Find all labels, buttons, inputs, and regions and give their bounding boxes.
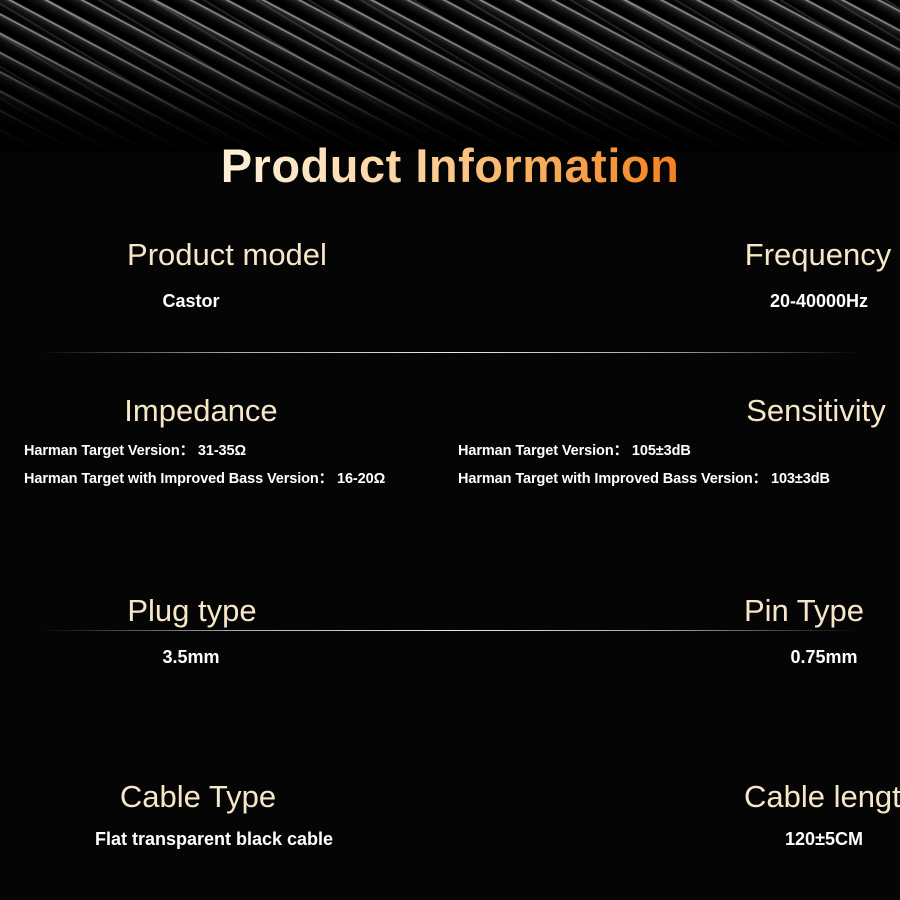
page-title: Product Information: [221, 138, 680, 193]
diagonal-ridge-texture-banner: [0, 0, 900, 152]
spec-value: 120±5CM: [599, 828, 900, 851]
spec-cell: Cable length 120±5CM: [450, 778, 900, 851]
page-title-container: Product Information: [0, 138, 900, 193]
spec-subline: Harman Target Version： 31-35Ω: [24, 444, 450, 459]
spec-subline: Harman Target with Improved Bass Version…: [458, 472, 900, 487]
spec-label: Pin Type: [579, 592, 900, 630]
spec-label: Cable Type: [0, 778, 423, 816]
specification-table: Product model Castor Frequency 20-40000H…: [0, 236, 900, 900]
spec-cell: Plug type 3.5mm: [0, 592, 450, 669]
texture-vignette: [0, 0, 900, 152]
spec-row: Product model Castor Frequency 20-40000H…: [0, 236, 900, 344]
spec-value: 20-40000Hz: [594, 290, 900, 313]
spec-subline-group: Harman Target Version： 31-35Ω Harman Tar…: [0, 444, 450, 487]
spec-row: Cable Type Flat transparent black cable …: [0, 730, 900, 900]
spec-label: Frequency: [593, 236, 900, 274]
spec-label: Cable length: [606, 778, 900, 816]
spec-label: Sensitivity: [591, 392, 900, 430]
spec-subline: Harman Target with Improved Bass Version…: [24, 472, 450, 487]
spec-value: 3.5mm: [0, 646, 416, 669]
spec-label: Plug type: [0, 592, 417, 630]
spec-value: 0.75mm: [599, 646, 900, 669]
spec-cell: Pin Type 0.75mm: [450, 592, 900, 669]
spec-cell: Cable Type Flat transparent black cable: [0, 778, 450, 851]
spec-value: Castor: [0, 290, 416, 313]
spec-label: Product model: [2, 236, 452, 274]
spec-cell: Sensitivity Harman Target Version： 105±3…: [450, 392, 900, 487]
spec-cell: Impedance Harman Target Version： 31-35Ω …: [0, 392, 450, 487]
product-information-page: Product Information Product model Castor…: [0, 0, 900, 900]
spec-subline: Harman Target Version： 105±3dB: [458, 444, 900, 459]
spec-cell: Frequency 20-40000Hz: [450, 236, 900, 313]
spec-row: Impedance Harman Target Version： 31-35Ω …: [0, 344, 900, 562]
spec-row: Plug type 3.5mm Pin Type 0.75mm: [0, 562, 900, 730]
spec-cell: Product model Castor: [0, 236, 450, 313]
spec-subline-group: Harman Target Version： 105±3dB Harman Ta…: [450, 444, 900, 487]
spec-label: Impedance: [0, 392, 426, 430]
spec-value: Flat transparent black cable: [0, 828, 439, 851]
